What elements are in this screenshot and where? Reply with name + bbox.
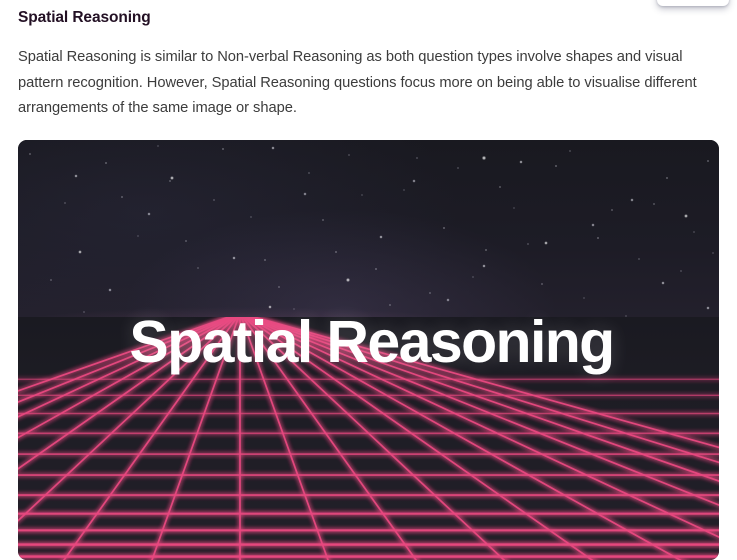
hero-banner-image: Spatial Reasoning xyxy=(18,140,719,560)
starfield-sky xyxy=(18,140,719,319)
stars-bright-layer xyxy=(18,140,719,322)
intro-paragraph: Spatial Reasoning is similar to Non-verb… xyxy=(18,28,718,122)
page-title: Spatial Reasoning xyxy=(18,0,720,28)
floating-panel-edge[interactable] xyxy=(657,0,729,6)
banner-title: Spatial Reasoning xyxy=(18,308,719,376)
article-section: Spatial Reasoning Spatial Reasoning is s… xyxy=(18,0,720,122)
